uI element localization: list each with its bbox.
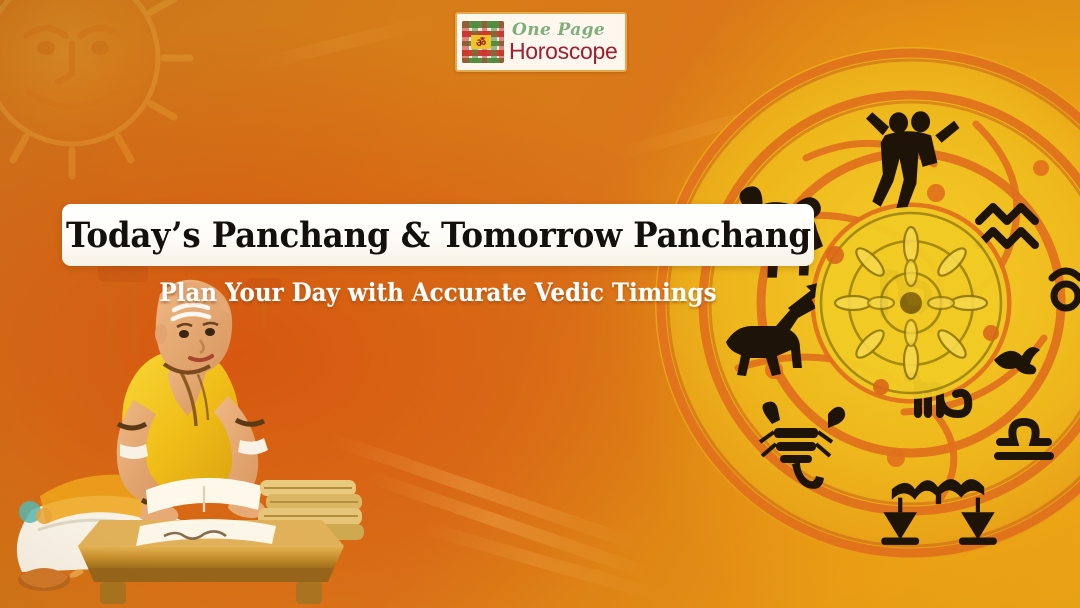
plaid-square-om-mark: ॐ: [462, 21, 504, 63]
svg-text:ॐ: ॐ: [476, 37, 486, 50]
page-subtitle: Plan Your Day with Accurate Vedic Timing…: [92, 278, 784, 307]
seated-pandit-illustration: [14, 258, 404, 608]
headline-bar: Today’s Panchang & Tomorrow Panchang: [62, 204, 814, 266]
page-title: Today’s Panchang & Tomorrow Panchang: [66, 215, 811, 256]
logo-tagline: One Page: [512, 22, 619, 39]
horoscope-banner: ॐ One Page Horoscope Today’s Panchang & …: [0, 0, 1080, 608]
logo-brand-name: Horoscope: [509, 40, 619, 63]
one-page-horoscope-logo[interactable]: ॐ One Page Horoscope: [455, 12, 627, 72]
sun-face-motif: [0, 0, 242, 238]
